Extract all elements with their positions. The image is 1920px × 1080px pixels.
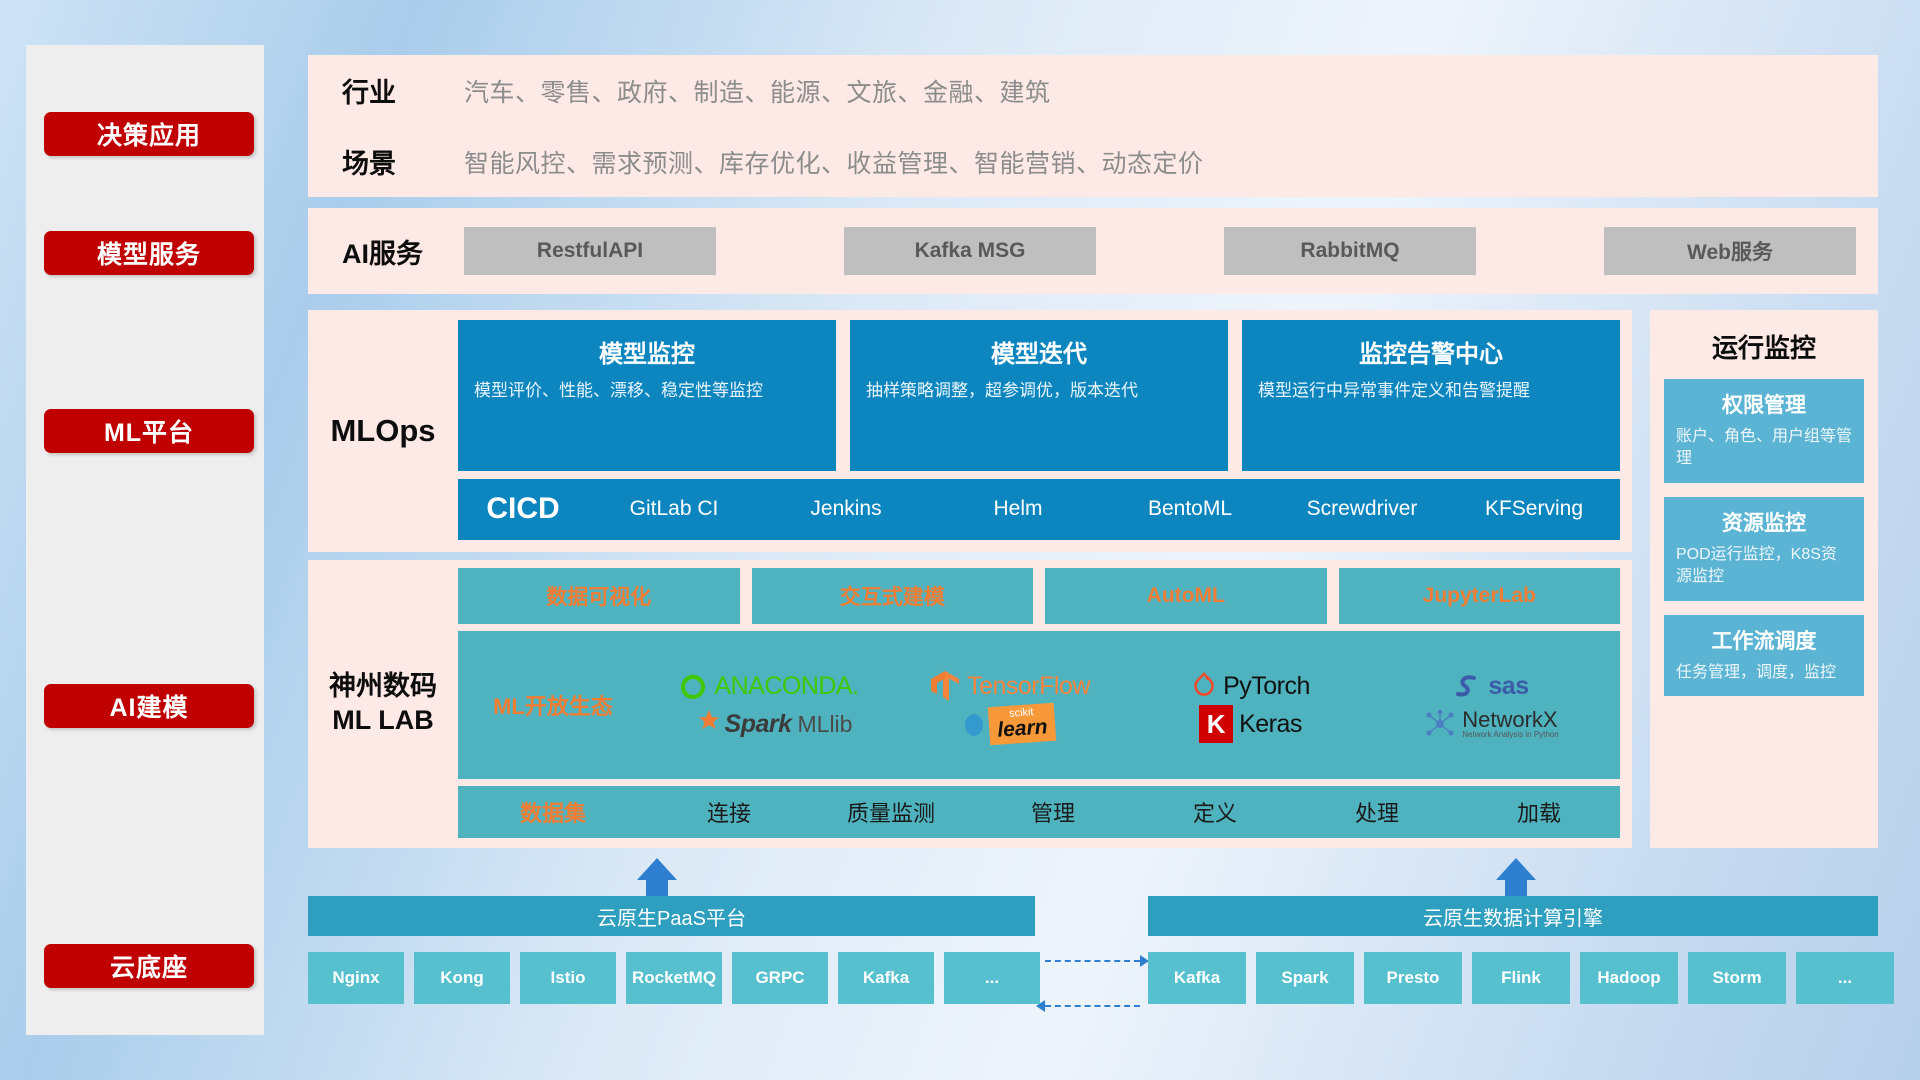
rail-item-ai-modeling[interactable]: AI建模 [44,684,254,728]
paas-chip-rocketmq[interactable]: RocketMQ [626,952,722,1004]
mlops-card-model-monitoring[interactable]: 模型监控 模型评价、性能、漂移、稳定性等监控 [458,320,836,471]
tool-automl[interactable]: AutoML [1045,568,1327,624]
spark-mllib-logo: Spark MLlib [685,709,853,739]
ml-lab-label: 神州数码 ML LAB [308,670,458,738]
keras-mark: K [1199,705,1233,743]
dataset-item-process[interactable]: 处理 [1296,796,1458,828]
card-desc: 模型运行中异常事件定义和告警提醒 [1258,379,1604,404]
mlops-content: 模型监控 模型评价、性能、漂移、稳定性等监控 模型迭代 抽样策略调整，超参调优，… [458,310,1632,552]
dataset-item-connect[interactable]: 连接 [648,796,810,828]
dataset-item-load[interactable]: 加载 [1458,796,1620,828]
mlops-cards: 模型监控 模型评价、性能、漂移、稳定性等监控 模型迭代 抽样策略调整，超参调优，… [458,320,1620,471]
spark-icon [685,709,719,739]
card-desc: 任务管理，调度，监控 [1676,662,1852,684]
industry-row: 行业 汽车、零售、政府、制造、能源、文旅、金融、建筑 [308,55,1878,126]
ml-lab-label-line2: ML LAB [308,704,458,738]
data-chip-flink[interactable]: Flink [1472,952,1570,1004]
networkx-icon [1424,709,1456,739]
keras-label: Keras [1239,710,1302,739]
data-chip-presto[interactable]: Presto [1364,952,1462,1004]
scikit-learn-logo: scikit learn [963,705,1055,743]
ml-ecosystem-row: ML开放生态 ANACONDA. Ten [458,631,1620,779]
cicd-title: CICD [458,492,588,526]
spark-label: Spark [725,710,792,739]
dataset-items: 连接 质量监测 管理 定义 处理 加载 [648,796,1620,828]
cicd-item-screwdriver[interactable]: Screwdriver [1276,496,1448,522]
mlops-label: MLOps [308,413,458,449]
rail-item-decision-app[interactable]: 决策应用 [44,112,254,156]
card-title: 模型迭代 [866,334,1212,369]
sas-label: sas [1488,672,1528,701]
monitoring-card-permission[interactable]: 权限管理 账户、角色、用户组等管理 [1664,379,1864,483]
keras-logo: K Keras [1199,705,1302,743]
scenario-values: 智能风控、需求预测、库存优化、收益管理、智能营销、动态定价 [464,144,1204,180]
monitoring-panel: 运行监控 权限管理 账户、角色、用户组等管理 资源监控 POD运行监控，K8S资… [1650,310,1878,848]
rail-item-cloud-base[interactable]: 云底座 [44,944,254,988]
anaconda-logo: ANACONDA. [678,671,858,701]
industry-label: 行业 [342,71,464,110]
ai-service-button-restfulapi[interactable]: RestfulAPI [464,227,716,275]
ai-service-buttons: RestfulAPI Kafka MSG RabbitMQ Web服务 [464,227,1878,275]
networkx-label: NetworkX [1462,709,1559,731]
cicd-item-bentoml[interactable]: BentoML [1104,496,1276,522]
paas-chip-kafka[interactable]: Kafka [838,952,934,1004]
cloud-bar-data-engine[interactable]: 云原生数据计算引擎 [1148,896,1878,936]
data-engine-chip-row: Kafka Spark Presto Flink Hadoop Storm ..… [1148,952,1894,1004]
ml-ecosystem-label: ML开放生态 [458,689,648,721]
paas-chip-row: Nginx Kong Istio RocketMQ GRPC Kafka ... [308,952,1040,1004]
mllib-label: MLlib [798,711,853,738]
card-title: 资源监控 [1676,507,1852,537]
monitoring-card-resource[interactable]: 资源监控 POD运行监控，K8S资源监控 [1664,497,1864,601]
industry-panel: 行业 汽车、零售、政府、制造、能源、文旅、金融、建筑 场景 智能风控、需求预测、… [308,55,1878,197]
dataset-item-define[interactable]: 定义 [1134,796,1296,828]
card-title: 监控告警中心 [1258,334,1604,369]
card-desc: 抽样策略调整，超参调优，版本迭代 [866,379,1212,404]
dataset-label: 数据集 [458,796,648,828]
ai-service-button-web[interactable]: Web服务 [1604,227,1856,275]
ml-ecosystem-logos: ANACONDA. TensorFlow [648,667,1620,743]
monitoring-title: 运行监控 [1664,328,1864,365]
cicd-item-gitlab-ci[interactable]: GitLab CI [588,496,760,522]
pytorch-logo: PyTorch [1191,671,1310,701]
ml-lab-panel: 神州数码 ML LAB 数据可视化 交互式建模 AutoML JupyterLa… [308,560,1632,848]
networkx-tagline: Network Analysis in Python [1462,731,1559,739]
cicd-item-kfserving[interactable]: KFServing [1448,496,1620,522]
scikit-learn-badge: scikit learn [988,703,1057,745]
ml-lab-label-line1: 神州数码 [308,670,458,704]
paas-chip-istio[interactable]: Istio [520,952,616,1004]
sas-logo: sas [1454,671,1528,701]
rail-item-model-service[interactable]: 模型服务 [44,231,254,275]
card-title: 工作流调度 [1676,625,1852,655]
dataset-row: 数据集 连接 质量监测 管理 定义 处理 加载 [458,786,1620,838]
industry-values: 汽车、零售、政府、制造、能源、文旅、金融、建筑 [464,73,1051,109]
tensorflow-logo: TensorFlow [929,669,1090,703]
ai-service-button-kafka-msg[interactable]: Kafka MSG [844,227,1096,275]
tensorflow-label: TensorFlow [967,672,1090,701]
tool-interactive-modeling[interactable]: 交互式建模 [752,568,1034,624]
ai-service-label: AI服务 [342,232,464,271]
monitoring-card-workflow[interactable]: 工作流调度 任务管理，调度，监控 [1664,615,1864,696]
ml-lab-tools: 数据可视化 交互式建模 AutoML JupyterLab [458,568,1620,624]
tool-data-visualization[interactable]: 数据可视化 [458,568,740,624]
dataset-item-manage[interactable]: 管理 [972,796,1134,828]
diagram-canvas: 决策应用 模型服务 ML平台 AI建模 云底座 行业 汽车、零售、政府、制造、能… [0,0,1920,1080]
sas-icon [1454,671,1482,701]
pytorch-icon [1191,671,1217,701]
networkx-text-block: NetworkX Network Analysis in Python [1462,709,1559,739]
card-desc: 模型评价、性能、漂移、稳定性等监控 [474,379,820,404]
keras-mark-letter: K [1207,709,1226,740]
card-desc: 账户、角色、用户组等管理 [1676,426,1852,471]
card-desc: POD运行监控，K8S资源监控 [1676,544,1852,589]
paas-chip-more[interactable]: ... [944,952,1040,1004]
learn-label: learn [997,717,1048,740]
data-chip-hadoop[interactable]: Hadoop [1580,952,1678,1004]
mlops-card-model-iteration[interactable]: 模型迭代 抽样策略调整，超参调优，版本迭代 [850,320,1228,471]
data-chip-more[interactable]: ... [1796,952,1894,1004]
anaconda-icon [678,671,708,701]
tensorflow-icon [929,669,961,703]
mlops-card-alert-center[interactable]: 监控告警中心 模型运行中异常事件定义和告警提醒 [1242,320,1620,471]
mlops-panel: MLOps 模型监控 模型评价、性能、漂移、稳定性等监控 模型迭代 抽样策略调整… [308,310,1632,552]
card-title: 模型监控 [474,334,820,369]
paas-chip-kong[interactable]: Kong [414,952,510,1004]
pytorch-label: PyTorch [1223,672,1310,701]
paas-chip-grpc[interactable]: GRPC [732,952,828,1004]
left-rail [26,45,264,1035]
ai-service-button-rabbitmq[interactable]: RabbitMQ [1224,227,1476,275]
anaconda-label: ANACONDA. [714,672,858,701]
tool-jupyterlab[interactable]: JupyterLab [1339,568,1621,624]
scenario-label: 场景 [342,142,464,181]
ml-lab-content: 数据可视化 交互式建模 AutoML JupyterLab ML开放生态 ANA… [458,560,1632,848]
cicd-item-jenkins[interactable]: Jenkins [760,496,932,522]
cicd-item-helm[interactable]: Helm [932,496,1104,522]
networkx-logo: NetworkX Network Analysis in Python [1424,709,1559,739]
cicd-bar: CICD GitLab CI Jenkins Helm BentoML Scre… [458,479,1620,540]
rail-item-ml-platform[interactable]: ML平台 [44,409,254,453]
data-chip-storm[interactable]: Storm [1688,952,1786,1004]
data-chip-kafka[interactable]: Kafka [1148,952,1246,1004]
dataset-item-quality[interactable]: 质量监测 [810,796,972,828]
data-chip-spark[interactable]: Spark [1256,952,1354,1004]
cloud-bar-paas[interactable]: 云原生PaaS平台 [308,896,1035,936]
paas-chip-nginx[interactable]: Nginx [308,952,404,1004]
ai-service-panel: AI服务 RestfulAPI Kafka MSG RabbitMQ Web服务 [308,208,1878,294]
cicd-items: GitLab CI Jenkins Helm BentoML Screwdriv… [588,496,1620,522]
card-title: 权限管理 [1676,389,1852,419]
scenario-row: 场景 智能风控、需求预测、库存优化、收益管理、智能营销、动态定价 [308,126,1878,197]
